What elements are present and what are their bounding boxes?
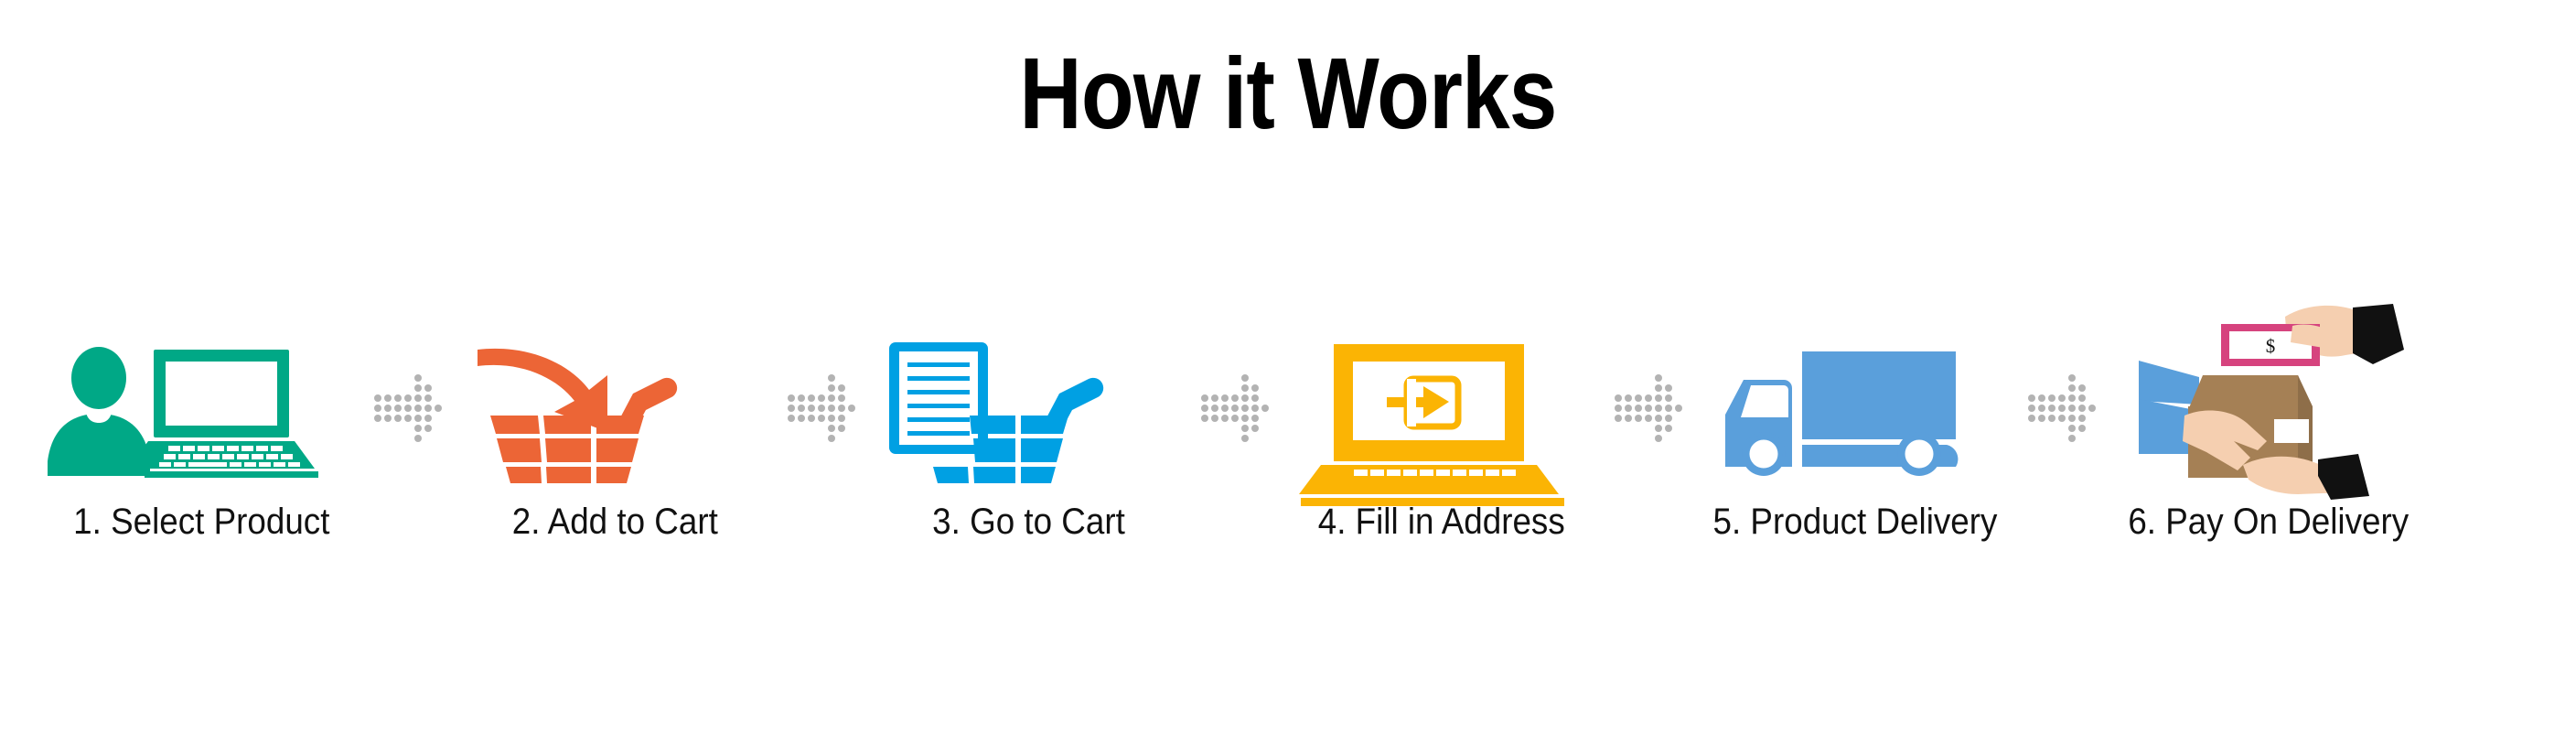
dot (394, 384, 402, 392)
delivery-truck-icon (1700, 337, 2011, 483)
dot (1241, 415, 1249, 422)
dot (2088, 394, 2096, 402)
step-label: 1. Select Product (73, 503, 329, 540)
dot (1655, 384, 1662, 392)
laptop-login-icon (1286, 337, 1597, 483)
hands-box-cash-icon: $ (2113, 304, 2424, 483)
dot (384, 374, 392, 382)
dot (424, 384, 432, 392)
dot (808, 425, 815, 432)
dot (1665, 415, 1672, 422)
dot (1221, 435, 1229, 442)
dot (1655, 394, 1662, 402)
dot (818, 405, 825, 412)
dot (1221, 415, 1229, 422)
dot (798, 435, 805, 442)
banknote-dollar-symbol: $ (2266, 335, 2276, 357)
dot (1635, 384, 1642, 392)
dot (2048, 374, 2055, 382)
dot (404, 405, 412, 412)
dot-arrow-grid (373, 373, 444, 444)
dot (1251, 415, 1259, 422)
dot (1675, 374, 1682, 382)
dot (374, 425, 381, 432)
cart-with-arrow-icon (459, 337, 770, 483)
dot (2068, 435, 2076, 442)
dot (828, 384, 835, 392)
dot (1241, 374, 1249, 382)
dot (798, 425, 805, 432)
dot (414, 425, 422, 432)
dot (2048, 425, 2055, 432)
dot (1231, 425, 1239, 432)
dot (788, 405, 795, 412)
dot (1261, 384, 1269, 392)
dot (384, 384, 392, 392)
step-3-go-to-cart[interactable]: 3. Go to Cart (854, 337, 1202, 540)
steps-row: 1. Select Product (0, 174, 2576, 540)
dot (1625, 384, 1632, 392)
dot (2088, 374, 2096, 382)
dot (818, 415, 825, 422)
dot-arrow-grid (2027, 373, 2098, 444)
dot (808, 405, 815, 412)
dot (1665, 394, 1672, 402)
dot (808, 435, 815, 442)
dot (1625, 415, 1632, 422)
dot (2028, 425, 2035, 432)
dot (828, 435, 835, 442)
dot (404, 374, 412, 382)
dot (2078, 374, 2086, 382)
dot (2058, 405, 2066, 412)
dot (848, 425, 855, 432)
dot (1261, 405, 1269, 412)
dot (838, 384, 845, 392)
dot (818, 435, 825, 442)
dot (384, 405, 392, 412)
dot (2078, 415, 2086, 422)
dot (394, 415, 402, 422)
dot (2038, 435, 2045, 442)
dot (1675, 435, 1682, 442)
dot (808, 384, 815, 392)
dot (828, 394, 835, 402)
dot (798, 374, 805, 382)
dot (2078, 384, 2086, 392)
dot (848, 374, 855, 382)
dot (1211, 384, 1218, 392)
dot (435, 405, 442, 412)
dot (1645, 405, 1652, 412)
dot (424, 405, 432, 412)
dot-arrow-grid (1614, 373, 1684, 444)
dot (414, 374, 422, 382)
dot (2088, 405, 2096, 412)
dot (798, 405, 805, 412)
dot (1231, 415, 1239, 422)
step-label: 2. Add to Cart (511, 503, 717, 540)
dot (788, 384, 795, 392)
dot (788, 415, 795, 422)
dot (384, 435, 392, 442)
dot (1261, 435, 1269, 442)
dot (424, 425, 432, 432)
dot (384, 394, 392, 402)
dot (384, 425, 392, 432)
dot (1201, 415, 1208, 422)
dot (1615, 394, 1622, 402)
dot (1675, 425, 1682, 432)
dot (1251, 405, 1259, 412)
dot (1231, 405, 1239, 412)
dot (808, 374, 815, 382)
step-label: 4. Fill in Address (1318, 503, 1565, 540)
dot (1655, 425, 1662, 432)
dot (1615, 435, 1622, 442)
dot (2058, 435, 2066, 442)
dot (798, 394, 805, 402)
dot (2078, 435, 2086, 442)
dot (2038, 374, 2045, 382)
dot (2028, 435, 2035, 442)
dot (2048, 435, 2055, 442)
dot (2038, 405, 2045, 412)
dot (1655, 374, 1662, 382)
step-4-fill-in-address[interactable]: 4. Fill in Address (1268, 337, 1615, 540)
dot (828, 415, 835, 422)
dot (1201, 425, 1208, 432)
dot (1211, 405, 1218, 412)
dot (2028, 415, 2035, 422)
dot (818, 374, 825, 382)
dot (1221, 374, 1229, 382)
dot (2068, 425, 2076, 432)
dot (424, 394, 432, 402)
dot (1665, 425, 1672, 432)
dot (828, 405, 835, 412)
dot (435, 394, 442, 402)
dot (1675, 415, 1682, 422)
dot (2078, 425, 2086, 432)
document-and-cart-icon (873, 337, 1184, 483)
dot (394, 425, 402, 432)
dot (1261, 374, 1269, 382)
dot (404, 425, 412, 432)
step-1-select-product[interactable]: 1. Select Product (27, 337, 375, 540)
dot (1635, 405, 1642, 412)
dot (414, 415, 422, 422)
dot (838, 374, 845, 382)
dot (838, 394, 845, 402)
dot (1675, 394, 1682, 402)
dot (404, 415, 412, 422)
dot (1231, 374, 1239, 382)
dot (2038, 415, 2045, 422)
dot (2048, 384, 2055, 392)
dot-arrow-right-icon (1615, 335, 1681, 481)
dot (788, 394, 795, 402)
dot (818, 425, 825, 432)
step-label: 5. Product Delivery (1713, 503, 1998, 540)
dot (1241, 384, 1249, 392)
dot (1211, 425, 1218, 432)
dot (2068, 415, 2076, 422)
dot (2088, 384, 2096, 392)
dot (788, 435, 795, 442)
dot-arrow-grid (787, 373, 857, 444)
dot (414, 405, 422, 412)
dot (1241, 435, 1249, 442)
dot (2088, 435, 2096, 442)
dot (1241, 405, 1249, 412)
dot (1615, 405, 1622, 412)
dot (1201, 435, 1208, 442)
dot (2068, 394, 2076, 402)
dot (1251, 384, 1259, 392)
dot (384, 415, 392, 422)
dot (828, 374, 835, 382)
dot (394, 435, 402, 442)
dot (374, 405, 381, 412)
dot (788, 374, 795, 382)
dot (1625, 374, 1632, 382)
dot (848, 405, 855, 412)
dot (1221, 405, 1229, 412)
dot (1635, 425, 1642, 432)
dot (1665, 435, 1672, 442)
dot (1635, 394, 1642, 402)
dot (435, 435, 442, 442)
dot (1645, 425, 1652, 432)
dot (1665, 384, 1672, 392)
dot (1665, 405, 1672, 412)
dot (2088, 415, 2096, 422)
dot (1261, 394, 1269, 402)
dot (1655, 415, 1662, 422)
dot (838, 415, 845, 422)
dot (818, 384, 825, 392)
how-it-works-infographic: How it Works (0, 0, 2576, 745)
dot (2068, 374, 2076, 382)
dot (2028, 394, 2035, 402)
dot (2088, 425, 2096, 432)
dot (1201, 405, 1208, 412)
dot (1261, 415, 1269, 422)
dot (2058, 425, 2066, 432)
page-title: How it Works (180, 44, 2396, 145)
dot (2048, 405, 2055, 412)
dot (2048, 394, 2055, 402)
dot (374, 374, 381, 382)
dot-arrow-right-icon (2029, 335, 2095, 481)
dot (374, 394, 381, 402)
step-label: 3. Go to Cart (932, 503, 1125, 540)
dot (414, 394, 422, 402)
dot (2038, 394, 2045, 402)
dot (1231, 435, 1239, 442)
dot (1665, 374, 1672, 382)
dot (1645, 374, 1652, 382)
dot (394, 394, 402, 402)
dot (404, 394, 412, 402)
dot-arrow-right-icon (789, 335, 854, 481)
dot (1645, 415, 1652, 422)
dot (1625, 405, 1632, 412)
dot (1615, 415, 1622, 422)
dot (1675, 405, 1682, 412)
dot (1635, 435, 1642, 442)
dot (2078, 405, 2086, 412)
dot (1615, 425, 1622, 432)
dot (2058, 384, 2066, 392)
dot (394, 374, 402, 382)
dot (1201, 394, 1208, 402)
dot (1625, 435, 1632, 442)
dot (848, 415, 855, 422)
dot (404, 384, 412, 392)
dot (1261, 425, 1269, 432)
dot (374, 435, 381, 442)
dot (1231, 384, 1239, 392)
dot (404, 435, 412, 442)
dot (1211, 374, 1218, 382)
dot (424, 435, 432, 442)
dot (2028, 374, 2035, 382)
step-6-pay-on-delivery[interactable]: $ (2095, 304, 2442, 540)
dot (435, 374, 442, 382)
dot (2058, 374, 2066, 382)
dot (1231, 394, 1239, 402)
dot (1615, 384, 1622, 392)
dot (1635, 415, 1642, 422)
dot (394, 405, 402, 412)
dot (1625, 394, 1632, 402)
dot (1251, 425, 1259, 432)
dot (1221, 394, 1229, 402)
dot (828, 425, 835, 432)
dot-arrow-grid (1200, 373, 1271, 444)
dot (1251, 394, 1259, 402)
dot (1201, 384, 1208, 392)
dot (808, 415, 815, 422)
dot (2048, 415, 2055, 422)
dot (1645, 435, 1652, 442)
dot (1221, 384, 1229, 392)
dot (414, 435, 422, 442)
dot-arrow-right-icon (375, 335, 441, 481)
dot (1221, 425, 1229, 432)
dot (798, 415, 805, 422)
dot (424, 415, 432, 422)
dot (1645, 394, 1652, 402)
dot (1241, 394, 1249, 402)
dot (2038, 425, 2045, 432)
dot (848, 435, 855, 442)
dot (848, 394, 855, 402)
dot (2078, 394, 2086, 402)
dot (435, 384, 442, 392)
dot (1201, 374, 1208, 382)
dot (798, 384, 805, 392)
dot (788, 425, 795, 432)
dot (808, 394, 815, 402)
dot (2068, 405, 2076, 412)
dot (435, 425, 442, 432)
dot (2068, 384, 2076, 392)
step-label: 6. Pay On Delivery (2129, 503, 2410, 540)
dot (1211, 415, 1218, 422)
dot (818, 394, 825, 402)
dot (838, 435, 845, 442)
dot (374, 384, 381, 392)
dot (1211, 394, 1218, 402)
dot (1211, 435, 1218, 442)
dot (1655, 435, 1662, 442)
dot (2028, 384, 2035, 392)
dot (374, 415, 381, 422)
dot (2058, 415, 2066, 422)
giving-hand-lower (2243, 454, 2369, 500)
dot (2038, 384, 2045, 392)
dot (848, 384, 855, 392)
dot (1251, 435, 1259, 442)
dot (1625, 425, 1632, 432)
dot-arrow-right-icon (1202, 335, 1268, 481)
dot (1251, 374, 1259, 382)
dot (424, 374, 432, 382)
dot (1635, 374, 1642, 382)
person-at-laptop-icon (46, 337, 357, 483)
dot (435, 415, 442, 422)
dot (2058, 394, 2066, 402)
step-5-product-delivery[interactable]: 5. Product Delivery (1681, 337, 2029, 540)
dot (1675, 384, 1682, 392)
dot (838, 405, 845, 412)
step-2-add-to-cart[interactable]: 2. Add to Cart (441, 337, 789, 540)
dot (1655, 405, 1662, 412)
dot (2028, 405, 2035, 412)
dot (414, 384, 422, 392)
dot (1645, 384, 1652, 392)
dot (1615, 374, 1622, 382)
dot (1241, 425, 1249, 432)
dot (838, 425, 845, 432)
